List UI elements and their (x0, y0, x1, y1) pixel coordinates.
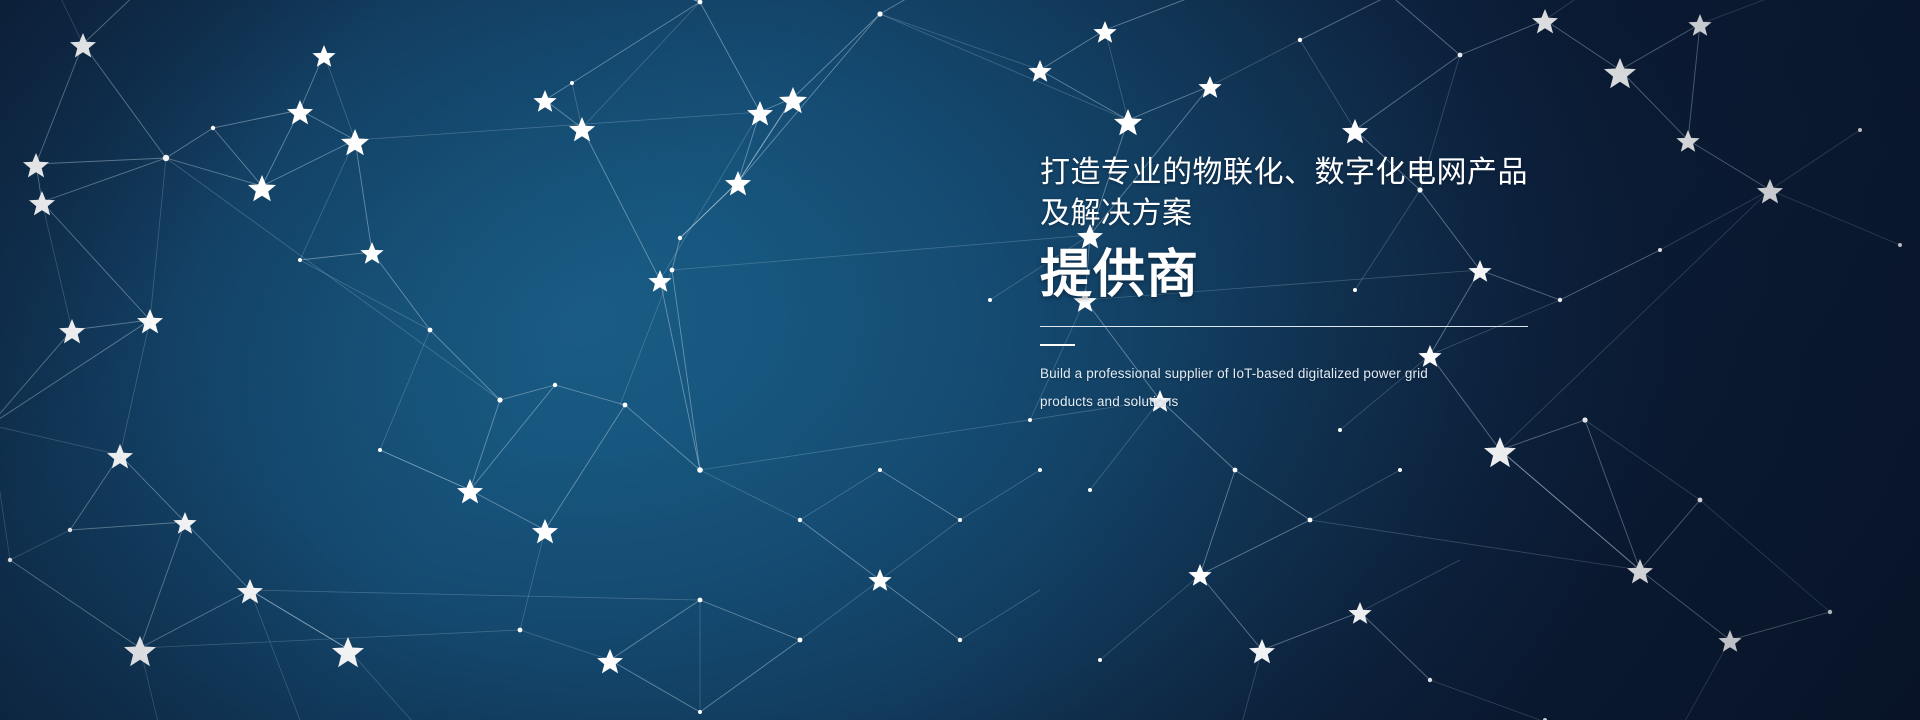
subtext: Build a professional supplier of IoT-bas… (1040, 360, 1460, 416)
horizontal-rule (1040, 326, 1528, 327)
hero-banner: 打造专业的物联化、数字化电网产品 及解决方案 提供商 Build a profe… (0, 0, 1920, 720)
accent-dash (1040, 344, 1075, 346)
subheading-line-1: 打造专业的物联化、数字化电网产品 (1040, 152, 1600, 193)
background-vignette (0, 0, 1920, 720)
subheading-line-2: 及解决方案 (1040, 193, 1600, 234)
subtext-line-1: Build a professional supplier of IoT-bas… (1040, 360, 1460, 388)
page-title: 提供商 (1040, 242, 1600, 308)
hero-text-block: 打造专业的物联化、数字化电网产品 及解决方案 提供商 Build a profe… (1040, 152, 1600, 416)
subtext-line-2: products and solutions (1040, 388, 1460, 416)
